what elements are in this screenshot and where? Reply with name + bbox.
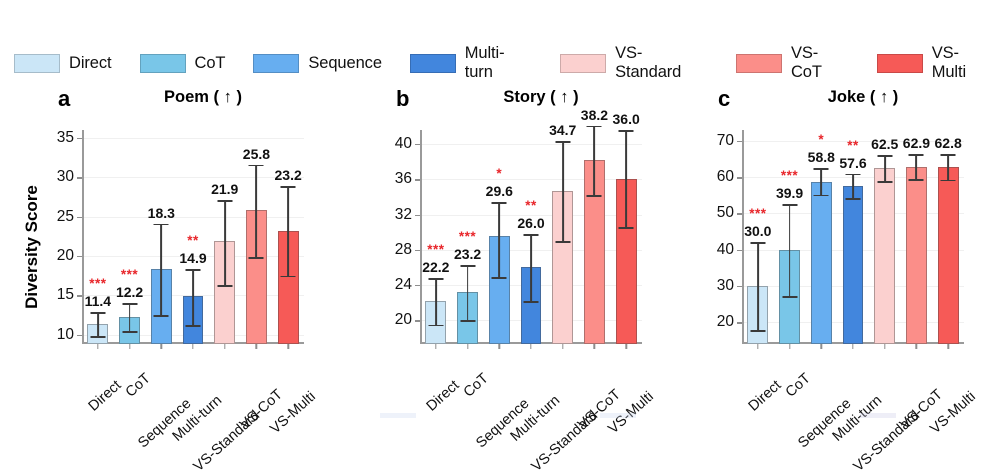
gridline: [420, 144, 642, 145]
error-bar: [916, 154, 918, 179]
plot-area: 20242832364022.2***Direct23.2***CoT29.6*…: [420, 130, 642, 344]
legend-item-cot[interactable]: CoT: [140, 54, 226, 73]
error-bar-cap-lower: [877, 181, 892, 183]
panel-joke: cJoke ( ↑ )20304050607030.0***Direct39.9…: [678, 86, 1007, 419]
legend-swatch-icon: [140, 54, 186, 73]
legend-label: Multi-turn: [465, 44, 533, 82]
significance-marker: **: [847, 138, 859, 153]
error-bar-cap-lower: [782, 296, 797, 298]
error-bar: [498, 202, 500, 277]
significance-marker: ***: [781, 168, 798, 183]
bar-multi-turn[interactable]: [843, 186, 864, 344]
bar-value-label: 62.9: [903, 135, 930, 151]
plot-area: 101520253035Diversity Score11.4***Direct…: [82, 130, 304, 344]
error-bar-cap-lower: [154, 315, 169, 317]
error-bar-cap-lower: [122, 331, 137, 333]
y-tick-label: 15: [57, 286, 74, 304]
x-tick-mark: [499, 344, 500, 349]
panel-title: Joke ( ↑ ): [738, 88, 988, 107]
x-tick-mark: [256, 344, 257, 349]
y-tick-label: 24: [395, 276, 412, 294]
error-bar-cap-upper: [186, 269, 201, 271]
error-bar: [852, 174, 854, 199]
significance-marker: *: [496, 166, 502, 181]
bar-value-label: 18.3: [148, 205, 175, 221]
legend-item-vs-standard[interactable]: VS-Standard: [560, 44, 708, 82]
error-bar: [129, 303, 131, 331]
error-bar: [625, 130, 627, 227]
y-tick-label: 40: [717, 241, 734, 259]
error-bar-cap-lower: [587, 195, 602, 197]
error-bar-cap-upper: [524, 234, 539, 236]
bar-value-label: 30.0: [744, 223, 771, 239]
bar-value-label: 34.7: [549, 122, 576, 138]
error-bar-cap-lower: [217, 285, 232, 287]
significance-marker: **: [187, 233, 199, 248]
bar-vs-standard[interactable]: [874, 168, 895, 344]
bar-value-label: 11.4: [85, 293, 111, 309]
bar-value-label: 36.0: [613, 111, 640, 127]
bar-value-label: 57.6: [839, 155, 866, 171]
error-bar-cap-lower: [281, 276, 296, 278]
clipped-swatch-icon: [600, 413, 636, 418]
error-bar-cap-upper: [90, 312, 105, 314]
error-bar: [287, 186, 289, 276]
legend-label: CoT: [195, 54, 226, 73]
significance-marker: **: [525, 198, 537, 213]
legend-label: VS-Standard: [615, 44, 708, 82]
x-tick-mark: [224, 344, 225, 349]
legend-item-vs-multi[interactable]: VS-Multi: [877, 44, 993, 82]
error-bar: [97, 312, 99, 336]
x-tick-mark: [947, 344, 948, 349]
bar-value-label: 23.2: [454, 246, 481, 262]
legend-swatch-icon: [736, 54, 782, 73]
error-bar-cap-upper: [941, 154, 956, 156]
legend-item-vs-cot[interactable]: VS-CoT: [736, 44, 849, 82]
bar-value-label: 39.9: [776, 185, 803, 201]
legend-label: VS-Multi: [932, 44, 993, 82]
y-tick-label: 40: [395, 135, 412, 153]
panel-letter: b: [396, 86, 409, 112]
legend-label: Direct: [69, 54, 112, 73]
y-tick-label: 10: [57, 326, 74, 344]
significance-marker: *: [818, 132, 824, 147]
y-tick-label: 25: [57, 208, 74, 226]
error-bar: [160, 224, 162, 315]
legend-item-multi-turn[interactable]: Multi-turn: [410, 44, 532, 82]
error-bar-cap-upper: [846, 174, 861, 176]
error-bar-cap-upper: [619, 130, 634, 132]
panel-title: Poem ( ↑ ): [78, 88, 328, 107]
x-tick-mark: [757, 344, 758, 349]
error-bar-cap-lower: [909, 179, 924, 181]
error-bar: [884, 155, 886, 181]
x-tick-mark: [789, 344, 790, 349]
x-tick-label-direct: Direct: [423, 377, 462, 414]
bar-value-label: 29.6: [486, 183, 513, 199]
y-tick-label: 35: [57, 129, 74, 147]
bar-value-label: 21.9: [211, 181, 238, 197]
x-tick-label-direct: Direct: [745, 377, 784, 414]
chart-legend: DirectCoTSequenceMulti-turnVS-StandardVS…: [0, 46, 1007, 80]
x-tick-mark: [530, 344, 531, 349]
x-tick-mark: [192, 344, 193, 349]
legend-swatch-icon: [410, 54, 456, 73]
panel-story: bStory ( ↑ )20242832364022.2***Direct23.…: [356, 86, 686, 419]
significance-marker: ***: [459, 229, 476, 244]
error-bar: [224, 200, 226, 285]
x-tick-mark: [435, 344, 436, 349]
x-tick-mark: [821, 344, 822, 349]
error-bar-cap-lower: [524, 301, 539, 303]
x-tick-label-direct: Direct: [85, 377, 124, 414]
error-bar: [757, 242, 759, 329]
error-bar-cap-upper: [460, 265, 475, 267]
significance-marker: ***: [121, 267, 138, 282]
x-tick-mark: [884, 344, 885, 349]
error-bar-cap-upper: [555, 141, 570, 143]
error-bar-cap-lower: [186, 325, 201, 327]
legend-item-direct[interactable]: Direct: [14, 54, 112, 73]
error-bar-cap-upper: [909, 154, 924, 156]
error-bar-cap-lower: [428, 325, 443, 327]
gridline: [82, 177, 304, 178]
bar-value-label: 22.2: [422, 259, 449, 275]
error-bar-cap-upper: [750, 242, 765, 244]
error-bar: [256, 165, 258, 258]
x-tick-mark: [467, 344, 468, 349]
error-bar-cap-upper: [877, 155, 892, 157]
chart-panels: aPoem ( ↑ )101520253035Diversity Score11…: [0, 86, 1007, 419]
bar-value-label: 14.9: [179, 250, 206, 266]
error-bar-cap-upper: [249, 165, 264, 167]
panel-title: Story ( ↑ ): [416, 88, 666, 107]
gridline: [82, 138, 304, 139]
y-tick-label: 70: [717, 132, 734, 150]
error-bar-cap-lower: [814, 195, 829, 197]
x-tick-mark: [625, 344, 626, 349]
x-tick-label-cot: CoT: [122, 370, 153, 400]
error-bar-cap-upper: [122, 303, 137, 305]
bar-value-label: 38.2: [581, 107, 608, 123]
y-tick-label: 60: [717, 168, 734, 186]
bar-value-label: 25.8: [243, 146, 270, 162]
error-bar-cap-upper: [281, 186, 296, 188]
panel-poem: aPoem ( ↑ )101520253035Diversity Score11…: [18, 86, 348, 419]
y-tick-label: 20: [395, 311, 412, 329]
x-tick-mark: [129, 344, 130, 349]
x-tick-mark: [97, 344, 98, 349]
y-axis-line: [82, 130, 84, 344]
y-axis-label: Diversity Score: [22, 185, 42, 309]
clipped-bottom-legend-strip: [0, 413, 1007, 419]
error-bar: [562, 141, 564, 241]
panel-letter: c: [718, 86, 730, 112]
bar-value-label: 62.8: [935, 135, 962, 151]
bar-value-label: 23.2: [275, 167, 302, 183]
bar-value-label: 58.8: [808, 149, 835, 165]
error-bar-cap-lower: [90, 336, 105, 338]
error-bar: [467, 265, 469, 320]
x-tick-mark: [287, 344, 288, 349]
significance-marker: ***: [749, 206, 766, 221]
x-tick-mark: [562, 344, 563, 349]
error-bar-cap-upper: [814, 168, 829, 170]
error-bar-cap-lower: [460, 320, 475, 322]
panel-letter: a: [58, 86, 70, 112]
clipped-swatch-icon: [860, 413, 896, 418]
gridline: [82, 217, 304, 218]
error-bar-cap-upper: [154, 224, 169, 226]
error-bar: [530, 234, 532, 301]
x-tick-label-cot: CoT: [782, 370, 813, 400]
legend-label: VS-CoT: [791, 44, 849, 82]
bar-value-label: 62.5: [871, 136, 898, 152]
bar-vs-multi[interactable]: [938, 167, 959, 344]
y-tick-label: 20: [57, 247, 74, 265]
legend-swatch-icon: [560, 54, 606, 73]
x-tick-mark: [852, 344, 853, 349]
y-tick-label: 32: [395, 206, 412, 224]
error-bar: [820, 168, 822, 194]
plot-area: 20304050607030.0***Direct39.9***CoT58.8*…: [742, 130, 964, 344]
error-bar-cap-lower: [249, 257, 264, 259]
error-bar: [594, 126, 596, 196]
error-bar-cap-lower: [750, 330, 765, 332]
bar-sequence[interactable]: [811, 182, 832, 344]
error-bar-cap-upper: [428, 278, 443, 280]
error-bar-cap-lower: [555, 241, 570, 243]
error-bar: [947, 154, 949, 179]
error-bar-cap-upper: [587, 126, 602, 128]
error-bar-cap-lower: [492, 277, 507, 279]
legend-swatch-icon: [14, 54, 60, 73]
legend-label: Sequence: [308, 54, 382, 73]
x-tick-mark: [161, 344, 162, 349]
error-bar-cap-lower: [619, 227, 634, 229]
error-bar-cap-lower: [846, 198, 861, 200]
x-tick-mark: [594, 344, 595, 349]
y-tick-label: 50: [717, 204, 734, 222]
error-bar-cap-upper: [217, 200, 232, 202]
y-tick-label: 30: [717, 277, 734, 295]
significance-marker: ***: [89, 276, 106, 291]
legend-item-sequence[interactable]: Sequence: [253, 54, 382, 73]
error-bar-cap-upper: [492, 202, 507, 204]
gridline: [420, 179, 642, 180]
y-axis-line: [420, 130, 422, 344]
x-tick-mark: [916, 344, 917, 349]
legend-swatch-icon: [253, 54, 299, 73]
error-bar: [789, 204, 791, 296]
clipped-swatch-icon: [380, 413, 416, 418]
error-bar: [192, 269, 194, 325]
x-tick-label-cot: CoT: [460, 370, 491, 400]
y-tick-label: 36: [395, 170, 412, 188]
y-tick-label: 28: [395, 241, 412, 259]
y-tick-label: 30: [57, 168, 74, 186]
error-bar-cap-lower: [941, 180, 956, 182]
legend-swatch-icon: [877, 54, 923, 73]
error-bar: [435, 278, 437, 325]
y-tick-label: 20: [717, 313, 734, 331]
bar-value-label: 12.2: [116, 284, 143, 300]
error-bar-cap-upper: [782, 204, 797, 206]
bar-vs-cot[interactable]: [906, 167, 927, 344]
significance-marker: ***: [427, 242, 444, 257]
bar-value-label: 26.0: [517, 215, 544, 231]
